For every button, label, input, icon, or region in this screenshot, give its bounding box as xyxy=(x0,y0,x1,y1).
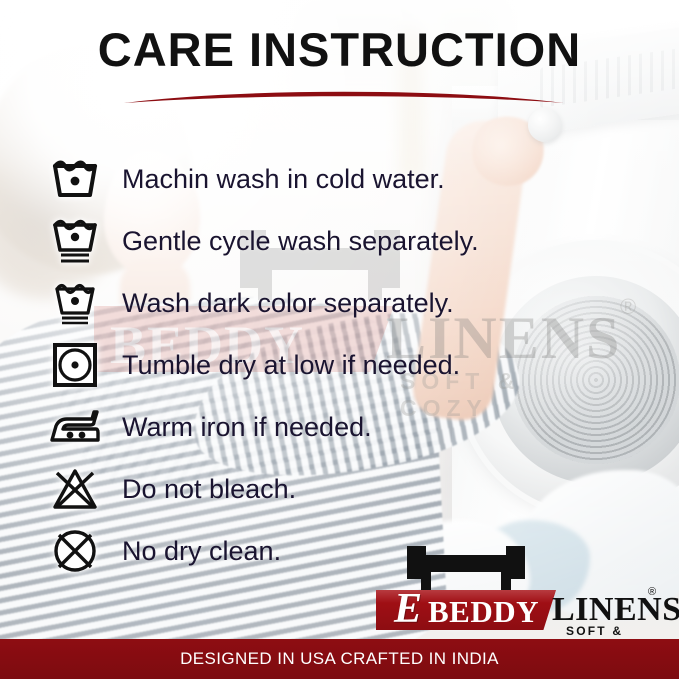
logo-brand-second: LINENS xyxy=(552,593,679,627)
title-swoosh-divider xyxy=(122,86,566,104)
gentle-cycle-wash-icon xyxy=(44,215,106,267)
list-item-label: Machin wash in cold water. xyxy=(122,164,445,195)
list-item-label: No dry clean. xyxy=(122,536,281,567)
care-instruction-card: BEDDY LINENS ® SOFT & COZY CARE INSTRUCT… xyxy=(0,0,679,679)
instruction-list: Machin wash in cold water. Gentle cycle … xyxy=(44,148,644,582)
warm-iron-icon xyxy=(44,401,106,453)
list-item-label: Tumble dry at low if needed. xyxy=(122,350,460,381)
list-item: Machin wash in cold water. xyxy=(44,148,644,210)
registered-trademark-icon: ® xyxy=(648,586,656,598)
list-item-label: Wash dark color separately. xyxy=(122,288,454,319)
no-dry-clean-icon xyxy=(44,525,106,577)
list-item: Tumble dry at low if needed. xyxy=(44,334,644,396)
wash-separately-icon xyxy=(44,277,106,329)
list-item: Wash dark color separately. xyxy=(44,272,644,334)
list-item-label: Warm iron if needed. xyxy=(122,412,372,443)
page-title: CARE INSTRUCTION xyxy=(0,22,679,77)
machine-wash-icon xyxy=(44,153,106,205)
do-not-bleach-icon xyxy=(44,463,106,515)
logo-brand-first: BEDDY xyxy=(428,596,539,627)
logo-e-mark: E xyxy=(394,588,422,630)
tumble-dry-low-icon xyxy=(44,339,106,391)
footer-text: DESIGNED IN USA CRAFTED IN INDIA xyxy=(180,649,499,669)
list-item: Warm iron if needed. xyxy=(44,396,644,458)
list-item-label: Gentle cycle wash separately. xyxy=(122,226,479,257)
footer-bar: DESIGNED IN USA CRAFTED IN INDIA xyxy=(0,639,679,679)
brand-logo: E BEDDY LINENS ® SOFT & COZY xyxy=(400,546,662,638)
list-item: Do not bleach. xyxy=(44,458,644,520)
list-item: Gentle cycle wash separately. xyxy=(44,210,644,272)
bed-icon xyxy=(407,546,525,590)
list-item-label: Do not bleach. xyxy=(122,474,296,505)
